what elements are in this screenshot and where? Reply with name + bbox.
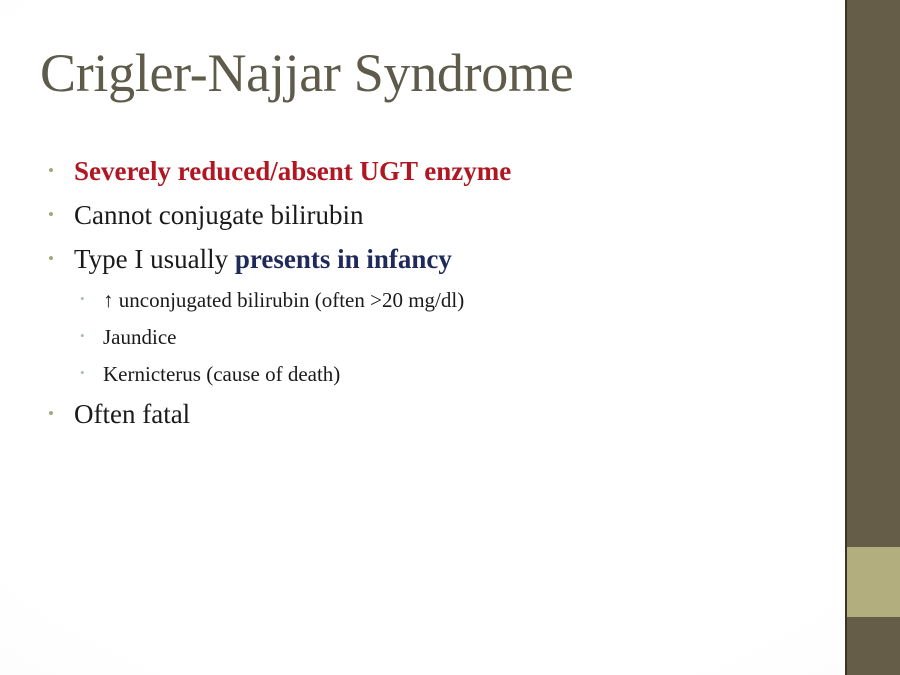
slide-canvas: Crigler-Najjar Syndrome • Severely reduc… — [0, 0, 900, 675]
bullet-text-lead: Type I usually — [74, 244, 235, 274]
sidebar-band-accent — [847, 547, 900, 617]
bullet-item-unconjugated-bilirubin: • ↑ unconjugated bilirubin (often >20 mg… — [80, 290, 808, 311]
sidebar-band-top — [847, 0, 900, 547]
bullet-item-kernicterus: • Kernicterus (cause of death) — [80, 364, 808, 385]
bullet-item-ugt-enzyme: • Severely reduced/absent UGT enzyme — [48, 158, 808, 185]
bullet-text-jaundice: Jaundice — [103, 327, 808, 348]
sub-bullet-marker-icon: • — [80, 329, 103, 342]
sub-bullet-marker-icon: • — [80, 366, 103, 379]
sub-bullet-marker-icon: • — [80, 292, 103, 305]
bullet-text-unconjugated-bilirubin: ↑ unconjugated bilirubin (often >20 mg/d… — [103, 290, 808, 311]
slide-title: Crigler-Najjar Syndrome — [40, 45, 573, 102]
bullet-marker-icon: • — [48, 206, 74, 223]
bullet-item-often-fatal: • Often fatal — [48, 401, 808, 428]
bullet-text-type-one-infancy: Type I usually presents in infancy — [74, 246, 808, 273]
bullet-text-emphasis: presents in infancy — [235, 244, 452, 274]
bullet-item-jaundice: • Jaundice — [80, 327, 808, 348]
bullet-marker-icon: • — [48, 250, 74, 267]
bullet-text-ugt-enzyme: Severely reduced/absent UGT enzyme — [74, 158, 808, 185]
bullet-marker-icon: • — [48, 162, 74, 179]
slide-body-content: • Severely reduced/absent UGT enzyme • C… — [48, 158, 808, 445]
bullet-text-cannot-conjugate: Cannot conjugate bilirubin — [74, 202, 808, 229]
decorative-sidebar — [845, 0, 900, 675]
bullet-text-often-fatal: Often fatal — [74, 401, 808, 428]
sidebar-band-bottom — [847, 617, 900, 675]
bullet-item-type-one-infancy: • Type I usually presents in infancy — [48, 246, 808, 273]
bullet-marker-icon: • — [48, 405, 74, 422]
bullet-text-kernicterus: Kernicterus (cause of death) — [103, 364, 808, 385]
bullet-item-cannot-conjugate: • Cannot conjugate bilirubin — [48, 202, 808, 229]
